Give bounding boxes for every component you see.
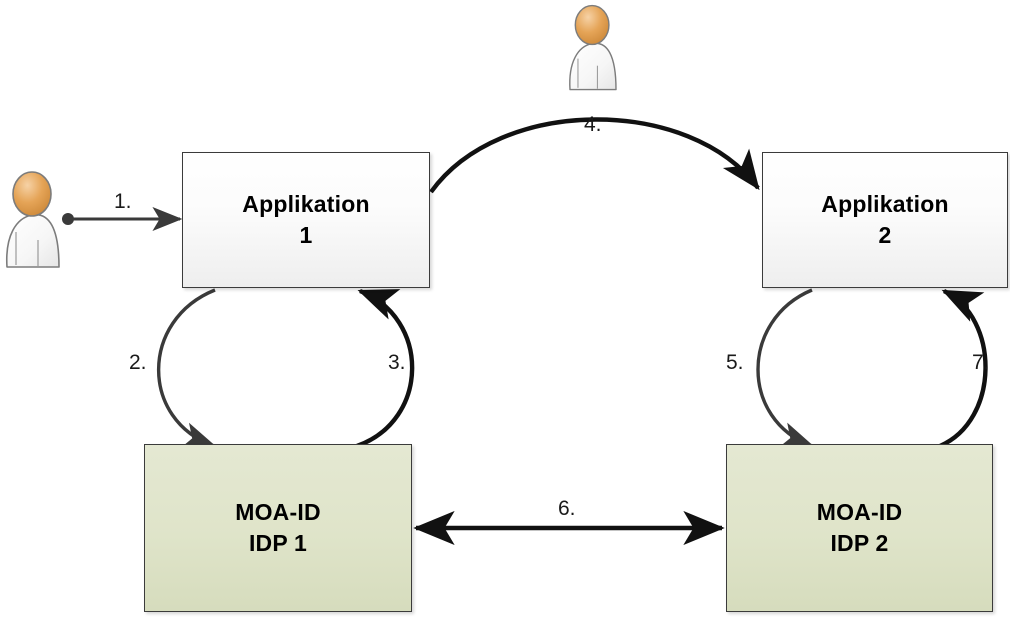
node-applikation-2[interactable]: Applikation 2 [762,152,1008,288]
node-applikation-2-line2: 2 [879,220,892,251]
edge-label-3: 3. [388,351,406,375]
node-applikation-2-line1: Applikation [821,189,948,220]
edge-label-2: 2. [129,351,147,375]
node-applikation-1[interactable]: Applikation 1 [182,152,430,288]
node-moaid-idp-1[interactable]: MOA-ID IDP 1 [144,444,412,612]
edge-label-4: 4. [584,113,602,137]
node-moaid-idp-1-line2: IDP 1 [249,528,307,559]
edge-label-5: 5. [726,351,744,375]
edge-label-7: 7. [972,351,990,375]
edge-label-1: 1. [114,190,132,214]
node-applikation-1-line1: Applikation [242,189,369,220]
node-moaid-idp-1-line1: MOA-ID [235,497,321,528]
diagram-canvas: Applikation 1 Applikation 2 MOA-ID IDP 1… [0,0,1010,618]
user-top-icon [560,2,626,94]
node-moaid-idp-2[interactable]: MOA-ID IDP 2 [726,444,993,612]
node-applikation-1-line2: 1 [300,220,313,251]
node-moaid-idp-2-line2: IDP 2 [830,528,888,559]
edge-5 [758,290,812,446]
edge-label-6: 6. [558,497,576,521]
edge-2 [159,290,215,446]
node-moaid-idp-2-line1: MOA-ID [817,497,903,528]
user-left-icon [2,168,64,272]
